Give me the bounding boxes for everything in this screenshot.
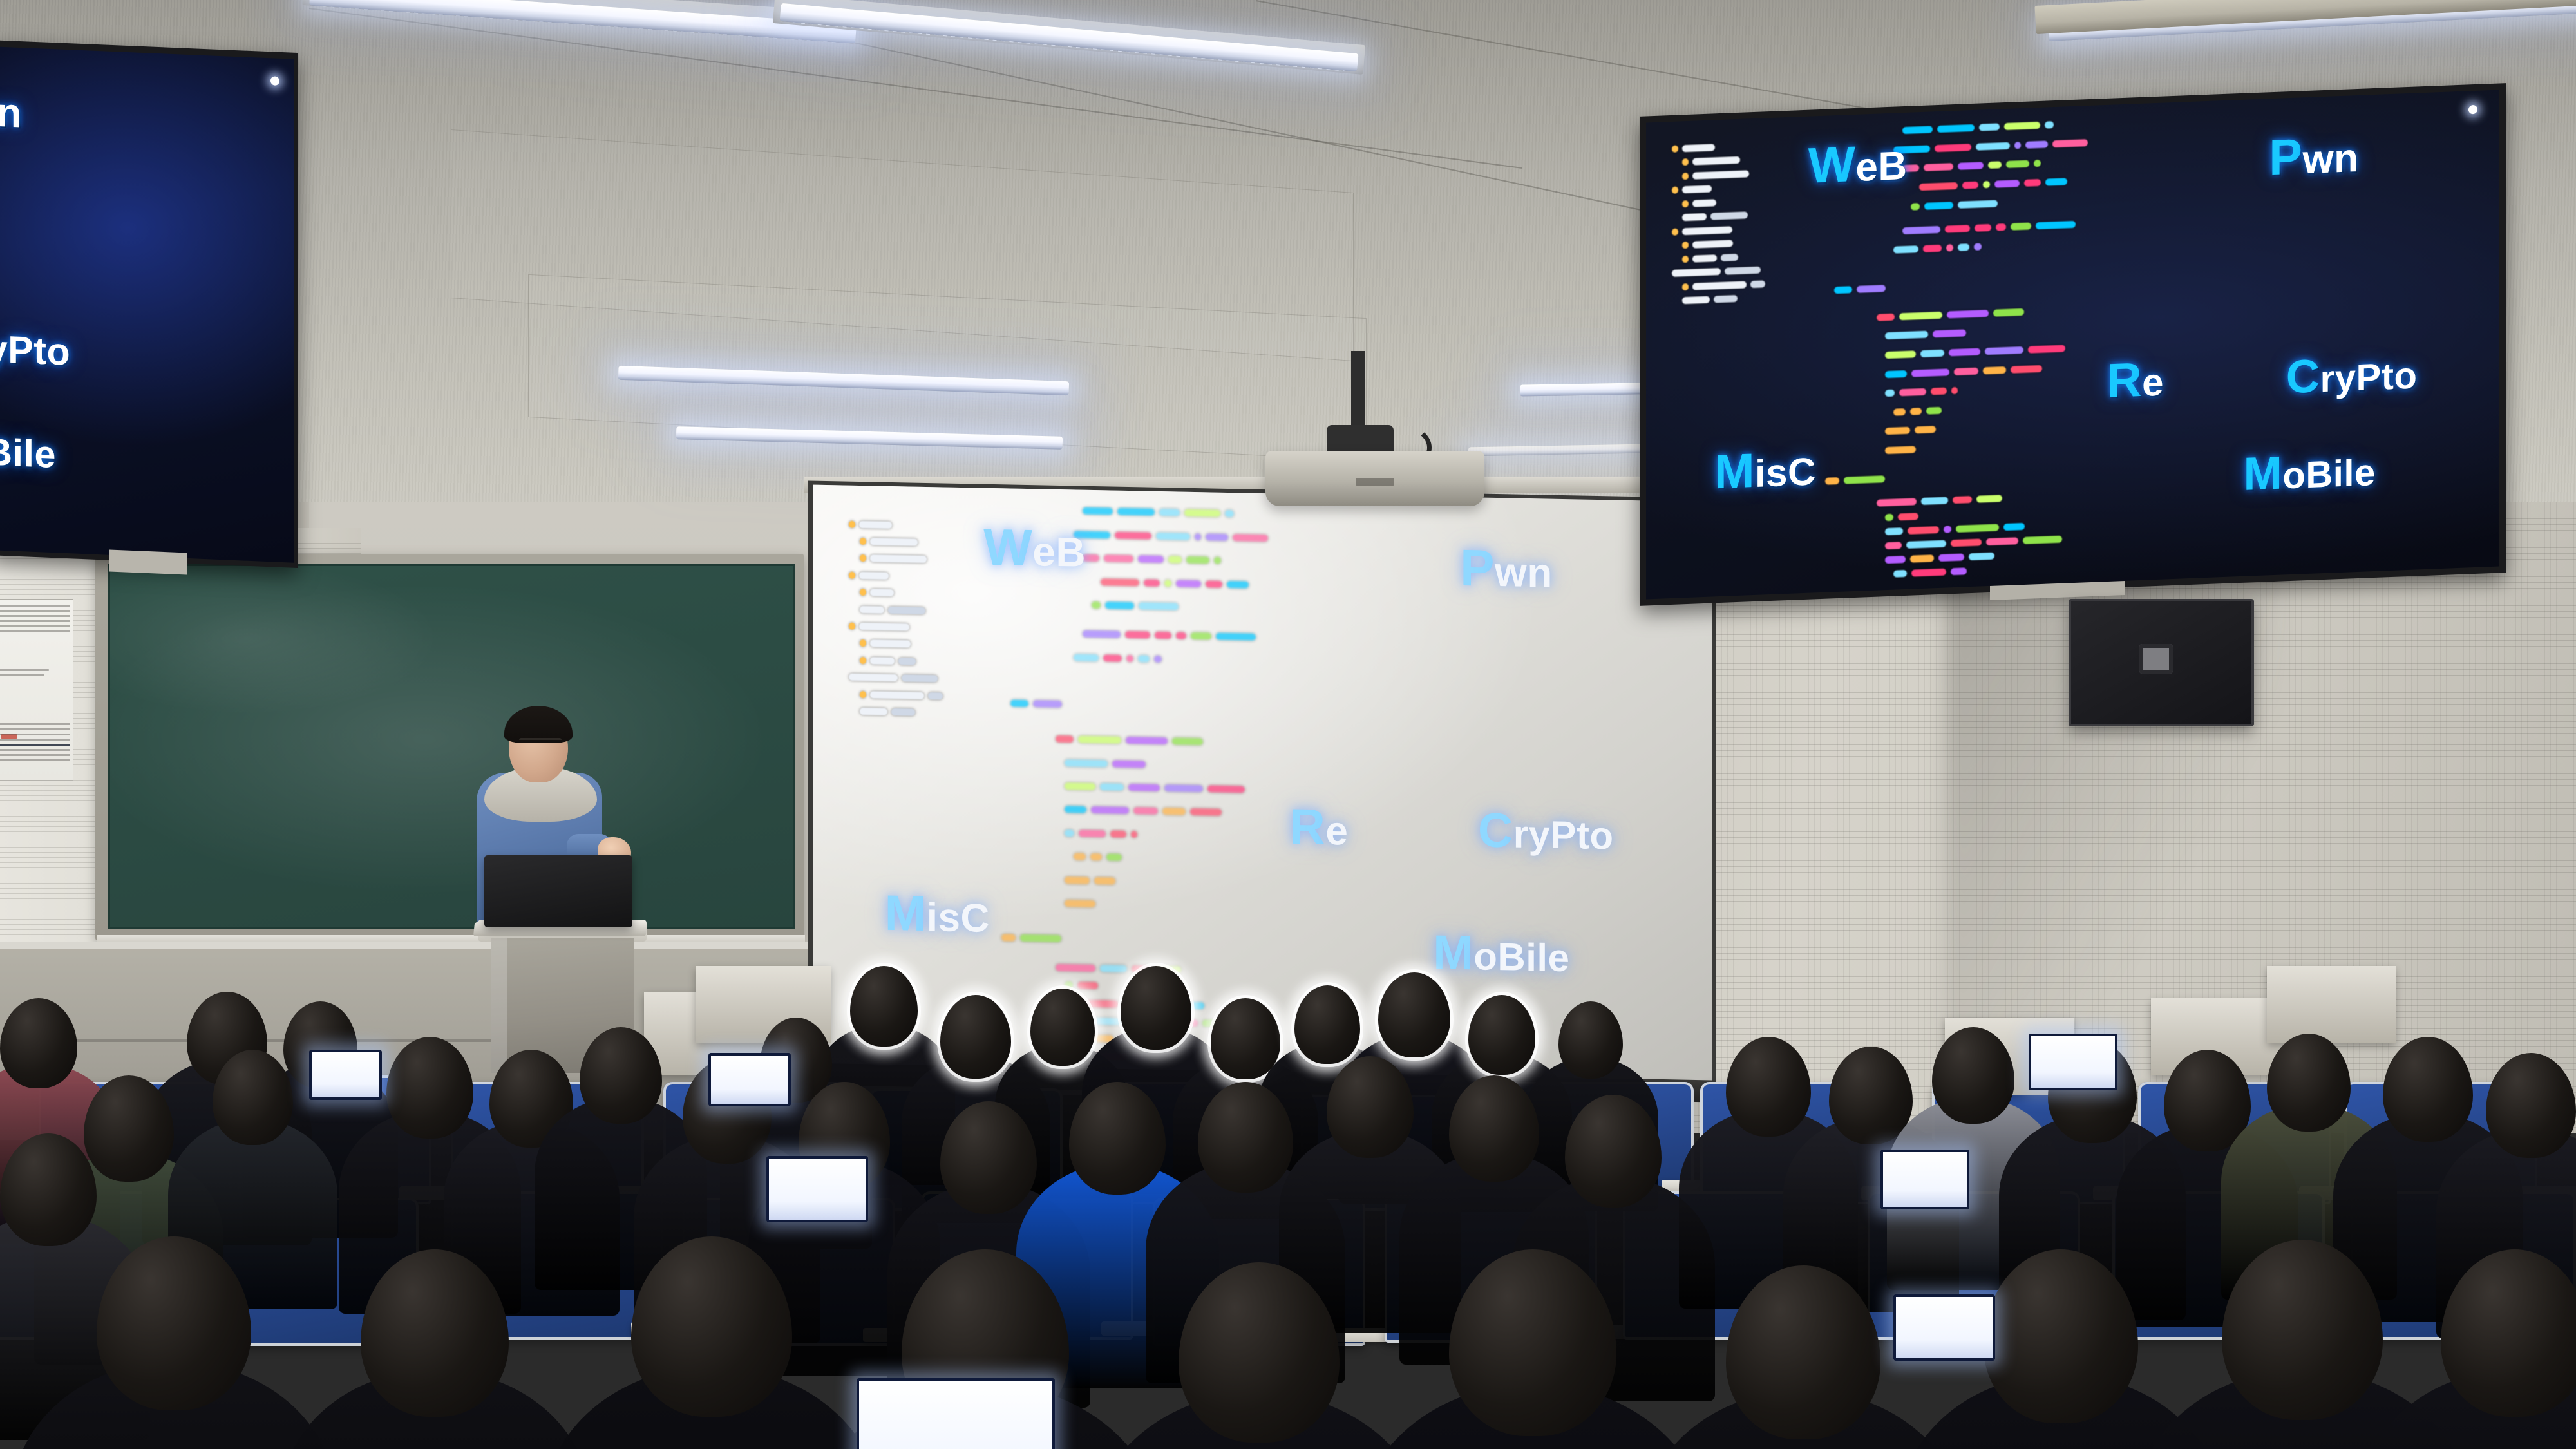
projector-mount-pole: [1351, 351, 1365, 435]
file-name-token: [870, 589, 894, 596]
category-label-misc: MisC: [1714, 440, 1816, 500]
category-label-pwn: Pwn: [0, 77, 22, 140]
code-token: [1117, 508, 1155, 516]
file-tree-row: [1672, 267, 1761, 277]
code-token: [1906, 540, 1946, 549]
code-line: [1065, 782, 1245, 793]
code-token: [1131, 831, 1137, 838]
category-label-mobile: MoBile: [2244, 442, 2376, 501]
code-token: [1951, 568, 1967, 576]
code-token: [1976, 495, 2002, 504]
code-token: [1834, 287, 1852, 294]
file-tree-row: [849, 674, 938, 683]
folder-icon: [860, 657, 866, 664]
folder-icon: [1672, 187, 1678, 194]
file-tree-row: [1682, 212, 1748, 222]
code-token: [1195, 533, 1201, 540]
code-line: [1065, 829, 1137, 838]
code-token: [1885, 513, 1893, 520]
code-token: [1947, 310, 1989, 318]
file-name-token: [1692, 240, 1733, 248]
category-rest-mobile: oBile: [0, 430, 56, 476]
code-token: [1974, 243, 1982, 251]
code-token: [1976, 142, 2010, 151]
code-token: [1233, 534, 1268, 542]
code-token: [1985, 346, 2023, 355]
code-token: [2011, 222, 2031, 230]
audience-member-head: [1726, 1037, 1811, 1137]
code-line: [1083, 630, 1256, 641]
code-token: [1986, 537, 2018, 545]
code-token: [1919, 182, 1958, 191]
code-line: [1885, 330, 1966, 340]
file-name-token: [859, 623, 909, 630]
category-initial-mobile: M: [2244, 447, 2283, 500]
audience-member-head: [1558, 1001, 1623, 1079]
folder-icon: [860, 538, 866, 545]
code-token: [1176, 580, 1201, 587]
code-token: [1056, 735, 1074, 743]
file-name-token: [870, 657, 895, 665]
file-meta-token: [888, 606, 925, 614]
code-token: [1958, 200, 1998, 208]
file-meta-token: [1714, 295, 1738, 303]
file-meta-token: [898, 658, 916, 665]
code-token: [1074, 853, 1086, 860]
code-token: [1112, 760, 1146, 768]
code-line: [1885, 513, 1918, 521]
code-token: [2052, 139, 2088, 147]
code-token: [1885, 390, 1895, 397]
category-initial-re: R: [2107, 352, 2143, 408]
file-name-token: [870, 691, 924, 699]
file-meta-token: [1725, 267, 1761, 275]
code-token: [1225, 510, 1234, 517]
code-token: [1159, 509, 1180, 516]
file-name-token: [1682, 185, 1712, 194]
right-tv-slide: WeBPwnReCryPtoMisCMoBile: [1646, 90, 2499, 600]
code-line: [1885, 523, 2025, 535]
code-token: [1216, 633, 1256, 641]
code-line: [1885, 426, 1936, 435]
folder-icon: [860, 690, 866, 697]
code-line: [1902, 121, 2054, 134]
folder-icon: [1672, 146, 1678, 153]
file-name-token: [1682, 144, 1715, 152]
file-tree-row: [849, 520, 892, 528]
folder-icon: [1682, 173, 1689, 180]
code-token: [1214, 557, 1221, 564]
code-token: [2036, 220, 2076, 229]
code-token: [1924, 164, 1953, 172]
code-token: [1206, 580, 1222, 587]
code-token: [2014, 142, 2021, 149]
code-token: [1969, 553, 1994, 561]
file-tree-row: [1682, 280, 1765, 290]
code-token: [1138, 555, 1164, 563]
category-rest-pwn: wn: [0, 89, 22, 137]
file-tree-row: [1672, 144, 1715, 153]
file-tree-row: [860, 657, 916, 665]
code-token: [1103, 654, 1122, 662]
audience-member-head: [213, 1050, 293, 1145]
code-token: [1104, 554, 1133, 562]
code-token: [1938, 554, 1964, 562]
category-label-mobile: MoBile: [0, 419, 56, 478]
code-token: [1138, 655, 1150, 662]
code-token: [1979, 124, 2000, 131]
file-tree-row: [849, 623, 909, 631]
code-line: [1902, 220, 2076, 234]
code-token: [1958, 162, 1984, 171]
code-token: [1133, 808, 1158, 815]
code-line: [1010, 699, 1062, 708]
code-token: [1983, 366, 2006, 374]
projector-badge: [1356, 478, 1394, 486]
code-token: [1083, 507, 1113, 515]
code-token: [1885, 370, 1907, 377]
code-token: [2024, 179, 2041, 187]
code-token: [1191, 632, 1211, 640]
file-name-token: [870, 555, 927, 563]
left-tv-mount: [109, 549, 187, 574]
code-token: [1065, 829, 1074, 837]
audience-laptop-screen[interactable]: [708, 1053, 791, 1106]
audience-laptop-screen[interactable]: [766, 1156, 868, 1222]
code-token: [1125, 631, 1150, 639]
code-line: [1065, 806, 1222, 816]
category-label-re: Re: [2107, 350, 2164, 408]
code-line: [1834, 285, 1886, 294]
file-tree-row: [860, 708, 915, 716]
code-token: [1126, 655, 1133, 662]
file-tree-row: [849, 571, 889, 579]
code-token: [1996, 223, 2006, 231]
file-meta-token: [1750, 280, 1765, 288]
code-line: [1885, 365, 2042, 377]
file-name-token: [1692, 170, 1749, 179]
code-token: [1857, 285, 1886, 294]
code-line: [1893, 568, 1967, 578]
code-token: [1100, 783, 1124, 791]
code-token: [1949, 348, 1980, 357]
code-token: [1921, 497, 1948, 506]
file-tree-row: [1682, 199, 1716, 207]
category-label-crypto: CryPto: [2286, 346, 2418, 404]
code-token: [1910, 554, 1934, 562]
code-token: [1010, 699, 1028, 707]
file-tree-row: [1682, 295, 1738, 304]
code-token: [1988, 162, 2002, 169]
category-initial-pwn: P: [2269, 129, 2302, 185]
code-token: [1115, 531, 1151, 539]
code-token: [2023, 536, 2062, 544]
code-line: [1885, 446, 1916, 454]
audience-laptop-screen[interactable]: [1893, 1294, 1995, 1361]
code-line: [1893, 139, 2088, 154]
code-token: [1033, 700, 1062, 708]
code-line: [1074, 531, 1268, 542]
audience-laptop-screen[interactable]: [309, 1050, 382, 1100]
code-token: [1184, 509, 1220, 517]
code-line: [1065, 759, 1146, 768]
code-token: [1091, 806, 1129, 814]
code-line: [1065, 876, 1115, 885]
category-rest-mobile: oBile: [2282, 451, 2375, 497]
code-token: [1877, 313, 1895, 321]
code-token: [2045, 178, 2067, 185]
code-line: [1902, 160, 2041, 172]
file-name-token: [1692, 281, 1747, 290]
code-token: [1092, 601, 1101, 609]
code-token: [1139, 602, 1179, 610]
code-token: [1110, 830, 1126, 837]
file-tree-row: [860, 639, 911, 648]
code-token: [1893, 408, 1906, 416]
file-tree-row: [1682, 240, 1733, 249]
code-token: [1065, 759, 1108, 767]
file-name-token: [1692, 254, 1717, 262]
audience-laptop-screen[interactable]: [857, 1378, 1055, 1449]
code-line: [1885, 536, 2062, 550]
code-token: [1877, 498, 1917, 507]
code-token: [1931, 388, 1947, 395]
file-name-token: [859, 572, 889, 580]
code-token: [1923, 245, 1942, 252]
code-token: [1975, 223, 1991, 231]
folder-icon: [1672, 228, 1678, 235]
code-line: [1074, 654, 1162, 663]
code-line: [1083, 554, 1221, 564]
file-meta-token: [902, 674, 938, 682]
code-token: [1190, 808, 1222, 816]
category-label-re: Re: [1289, 799, 1348, 857]
code-line: [1911, 200, 1998, 210]
code-line: [1885, 387, 1958, 397]
folder-icon: [1682, 241, 1689, 249]
file-tree-row: [860, 554, 927, 563]
code-token: [1937, 124, 1975, 133]
code-token: [1910, 408, 1922, 415]
file-name-token: [1682, 213, 1707, 221]
file-name-token: [1692, 199, 1716, 207]
file-meta-token: [1721, 254, 1738, 261]
code-token: [1885, 446, 1916, 454]
category-label-web: WeB: [1808, 134, 1908, 195]
code-token: [1898, 513, 1918, 520]
folder-icon: [1682, 283, 1689, 290]
code-token: [1156, 533, 1190, 540]
category-label-pwn: Pwn: [1460, 538, 1553, 600]
audience-member-head: [2383, 1037, 2473, 1142]
category-rest-misc: isC: [1755, 450, 1816, 496]
folder-icon: [1682, 158, 1689, 166]
code-line: [1885, 553, 1994, 564]
code-token: [1893, 245, 1918, 253]
code-token: [1944, 526, 1951, 533]
right-wall-tv[interactable]: WeBPwnReCryPtoMisCMoBile: [1646, 90, 2499, 600]
code-token: [1958, 243, 1969, 251]
code-line: [1893, 243, 1982, 254]
code-token: [1144, 579, 1160, 586]
category-rest-re: e: [2142, 360, 2164, 404]
code-token: [1101, 578, 1139, 586]
code-token: [1954, 367, 1978, 375]
category-rest-crypto: ryPto: [2320, 355, 2418, 401]
folder-icon: [849, 571, 855, 578]
code-token: [1933, 330, 1966, 338]
file-meta-token: [1710, 212, 1748, 220]
code-token: [1899, 312, 1942, 321]
glasses-icon: [519, 738, 562, 748]
code-token: [1074, 654, 1099, 661]
code-token: [1227, 580, 1249, 588]
power-led-icon: [270, 76, 279, 86]
file-meta-token: [891, 708, 915, 716]
code-line: [1885, 345, 2065, 359]
code-token: [1885, 527, 1903, 535]
code-line: [1074, 853, 1122, 861]
code-token: [2034, 160, 2041, 167]
code-token: [2006, 160, 2029, 168]
file-name-token: [870, 640, 911, 648]
category-rest-crypto: ryPto: [0, 327, 70, 374]
audience-member-head: [1829, 1046, 1913, 1144]
code-token: [1186, 556, 1209, 564]
file-tree-row: [1682, 156, 1740, 166]
code-token: [1956, 524, 1999, 533]
code-token: [1207, 785, 1245, 793]
audience-laptop-screen[interactable]: [2029, 1034, 2117, 1090]
code-token: [1902, 126, 1933, 135]
category-rest-pwn: wn: [1495, 549, 1553, 596]
file-tree-row: [860, 589, 894, 596]
code-token: [1172, 737, 1203, 745]
code-token: [2028, 345, 2065, 353]
code-token: [1893, 570, 1907, 578]
code-token: [1094, 877, 1115, 885]
code-token: [2004, 122, 2040, 130]
code-token: [1065, 876, 1090, 884]
code-line: [1893, 407, 1942, 416]
folder-icon: [1682, 200, 1689, 207]
folder-icon: [1682, 256, 1689, 263]
audience-member-head: [2267, 1034, 2351, 1132]
code-token: [1126, 737, 1168, 744]
file-tree-row: [1672, 185, 1712, 194]
category-rest-web: eB: [1855, 144, 1907, 190]
code-line: [1919, 178, 2067, 191]
code-token: [1164, 784, 1203, 792]
code-token: [1946, 244, 1953, 251]
code-token: [1962, 182, 1978, 189]
wall-poster: [0, 599, 73, 781]
audience-member-head: [386, 1037, 473, 1139]
code-token: [1155, 632, 1171, 639]
file-name-token: [1692, 156, 1740, 166]
code-token: [1065, 782, 1095, 790]
file-name-token: [1682, 296, 1710, 305]
code-token: [2011, 365, 2042, 373]
code-token: [1164, 580, 1171, 587]
file-tree-row: [860, 538, 918, 546]
category-initial-crypto: C: [2286, 350, 2320, 403]
file-tree-row: [860, 690, 943, 699]
file-tree-row: [860, 606, 925, 614]
code-token: [1994, 180, 2020, 187]
category-label-crypto: CryPto: [0, 316, 70, 376]
category-rest-web: eB: [1032, 528, 1086, 576]
audience: [0, 889, 2576, 1449]
file-tree-row: [1682, 254, 1738, 263]
code-token: [1154, 656, 1162, 663]
speaker-driver-icon: [2139, 644, 2173, 674]
code-line: [1877, 308, 2024, 321]
audience-member-head: [0, 998, 77, 1088]
folder-icon: [860, 554, 866, 562]
audience-member-head: [2486, 1053, 2576, 1158]
audience-laptop-screen[interactable]: [1880, 1150, 1969, 1209]
code-token: [1885, 331, 1928, 340]
code-token: [1951, 387, 1958, 394]
folder-icon: [860, 639, 866, 647]
classroom-photo: WeBPwnReCryPtoMisCMoBile WeBPwnReCryPtoM…: [0, 0, 2576, 1449]
category-rest-crypto: ryPto: [1513, 813, 1614, 858]
code-token: [1902, 226, 1940, 234]
left-tv-slide: WeBPwnReCryPtoMisCMoBile: [0, 46, 14, 561]
code-token: [2045, 121, 2054, 129]
file-tree-row: [1682, 170, 1749, 180]
file-meta-token: [928, 692, 943, 699]
category-initial-web: W: [983, 518, 1032, 576]
folder-icon: [849, 520, 855, 527]
code-token: [1206, 533, 1228, 541]
code-line: [1083, 507, 1234, 518]
code-token: [1953, 496, 1972, 504]
code-line: [1877, 495, 2002, 507]
file-name-token: [870, 538, 918, 545]
folder-icon: [849, 623, 855, 630]
folder-icon: [860, 589, 866, 596]
code-token: [1920, 350, 1944, 357]
desk-block: [2267, 966, 2396, 1043]
code-token: [1078, 736, 1121, 744]
category-label-crypto: CryPto: [1478, 802, 1614, 860]
code-token: [1065, 806, 1086, 813]
code-token: [1885, 556, 1906, 563]
category-initial-misc: M: [1714, 443, 1755, 498]
chalkboard: [108, 564, 795, 929]
code-token: [1945, 225, 1970, 232]
code-line: [1101, 578, 1249, 588]
file-name-token: [849, 674, 898, 681]
code-line: [1056, 735, 1203, 745]
left-wall-tv[interactable]: WeBPwnReCryPtoMisCMoBile: [0, 46, 294, 563]
code-token: [1128, 784, 1160, 791]
code-token: [1908, 526, 1939, 535]
code-token: [1168, 556, 1182, 563]
category-initial-pwn: P: [1460, 539, 1495, 597]
code-token: [2003, 523, 2025, 531]
category-label-web: WeB: [983, 517, 1086, 578]
file-name-token: [860, 708, 887, 715]
code-token: [1885, 350, 1916, 359]
code-token: [1993, 308, 2024, 317]
code-token: [1083, 630, 1121, 638]
category-initial-web: W: [1808, 137, 1856, 194]
file-name-token: [859, 521, 892, 529]
code-token: [1951, 538, 1982, 547]
